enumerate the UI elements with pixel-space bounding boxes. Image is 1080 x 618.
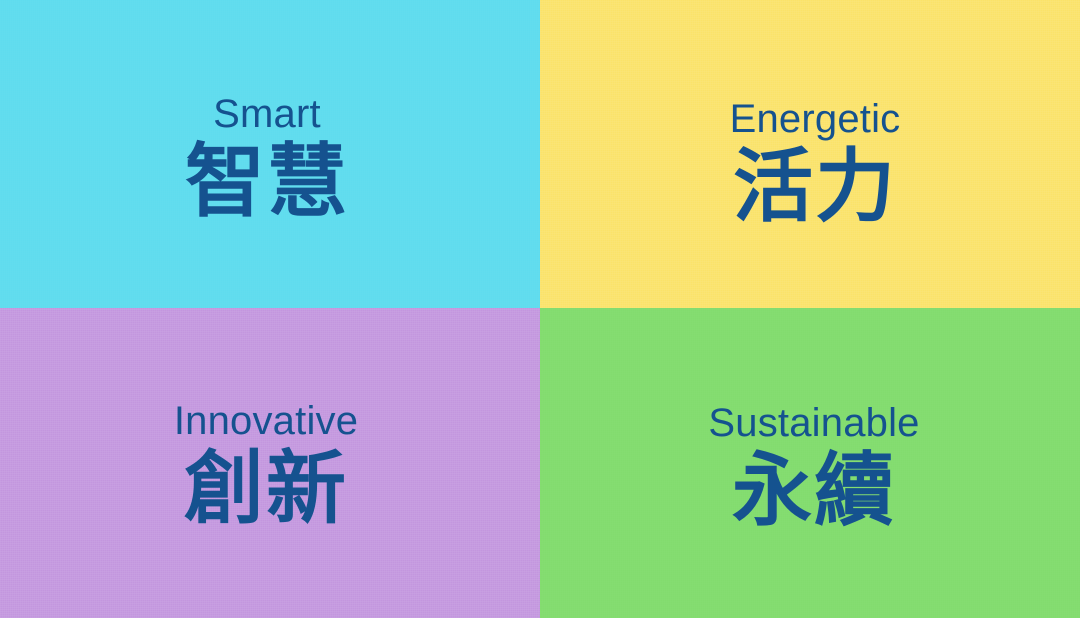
quadrant-innovative[interactable]: Innovative 創新	[0, 308, 540, 618]
quadrant-smart-label-zh: 智慧	[185, 142, 349, 222]
quadrant-smart[interactable]: Smart 智慧	[0, 0, 540, 308]
quadrant-sustainable-label-en: Sustainable	[708, 403, 919, 443]
quadrant-innovative-text-stack: Innovative 創新	[174, 401, 358, 529]
quadrant-innovative-label-zh: 創新	[184, 449, 348, 529]
quadrant-sustainable-label-zh: 永續	[732, 451, 896, 531]
quadrant-energetic-label-zh: 活力	[733, 147, 897, 227]
quadrant-smart-label-en: Smart	[213, 94, 321, 134]
quadrant-smart-text-stack: Smart 智慧	[185, 94, 349, 222]
quadrant-energetic-text-stack: Energetic 活力	[730, 99, 901, 227]
quadrant-innovative-label-en: Innovative	[174, 401, 358, 441]
quadrant-energetic-label-en: Energetic	[730, 99, 901, 139]
quadrant-energetic[interactable]: Energetic 活力	[540, 0, 1080, 308]
quadrant-sustainable[interactable]: Sustainable 永續	[540, 308, 1080, 618]
brand-values-poster: Smart 智慧 Energetic 活力 Innovative 創新 Sust…	[0, 0, 1080, 618]
quadrant-sustainable-text-stack: Sustainable 永續	[708, 403, 919, 531]
